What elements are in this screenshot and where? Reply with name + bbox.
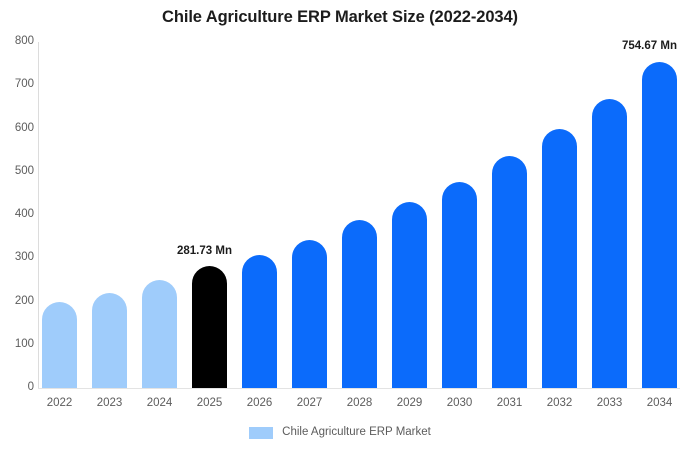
x-axis-tick-2031: 2031 [484,398,536,410]
x-axis-tick-2023: 2023 [84,398,136,410]
bar-rect-2030 [442,182,477,388]
bar-2028[interactable] [342,40,377,388]
legend-swatch-icon [249,427,273,439]
legend-item-label: Chile Agriculture ERP Market [282,427,431,439]
bar-2031[interactable] [492,40,527,388]
bar-rect-2028 [342,220,377,388]
bar-rect-2025 [192,266,227,388]
bar-2033[interactable] [592,40,627,388]
bar-2032[interactable] [542,40,577,388]
bar-rect-2027 [292,240,327,388]
bar-2030[interactable] [442,40,477,388]
chart-container: Chile Agriculture ERP Market Size (2022-… [0,0,680,450]
x-axis-tick-2030: 2030 [434,398,486,410]
bar-2026[interactable] [242,40,277,388]
legend-item[interactable]: Chile Agriculture ERP Market [249,427,431,439]
x-axis-tick-2028: 2028 [334,398,386,410]
x-axis-tick-2026: 2026 [234,398,286,410]
x-axis-tick-2024: 2024 [134,398,186,410]
x-axis-tick-2029: 2029 [384,398,436,410]
bar-2029[interactable] [392,40,427,388]
bar-rect-2029 [392,202,427,388]
bar-rect-2032 [542,129,577,388]
bars-layer [0,0,680,388]
x-axis-tick-2022: 2022 [34,398,86,410]
bar-rect-2026 [242,255,277,388]
bar-rect-2031 [492,156,527,388]
bar-rect-2034 [642,62,677,388]
x-axis-tick-2033: 2033 [584,398,636,410]
bar-2022[interactable] [42,40,77,388]
x-axis-tick-2032: 2032 [534,398,586,410]
x-axis-tick-2027: 2027 [284,398,336,410]
bar-rect-2023 [92,293,127,388]
bar-2023[interactable] [92,40,127,388]
value-label-final-year: 754.67 Mn [622,41,677,53]
x-axis-tick-2034: 2034 [634,398,680,410]
bar-2027[interactable] [292,40,327,388]
bar-rect-2024 [142,280,177,388]
bar-rect-2033 [592,99,627,388]
x-axis-line [38,388,680,389]
chart-legend: Chile Agriculture ERP Market [0,427,680,439]
bar-2024[interactable] [142,40,177,388]
bar-rect-2022 [42,302,77,388]
value-label-base-year: 281.73 Mn [177,246,232,258]
bar-2025[interactable] [192,40,227,388]
x-axis-tick-2025: 2025 [184,398,236,410]
bar-2034[interactable] [642,40,677,388]
